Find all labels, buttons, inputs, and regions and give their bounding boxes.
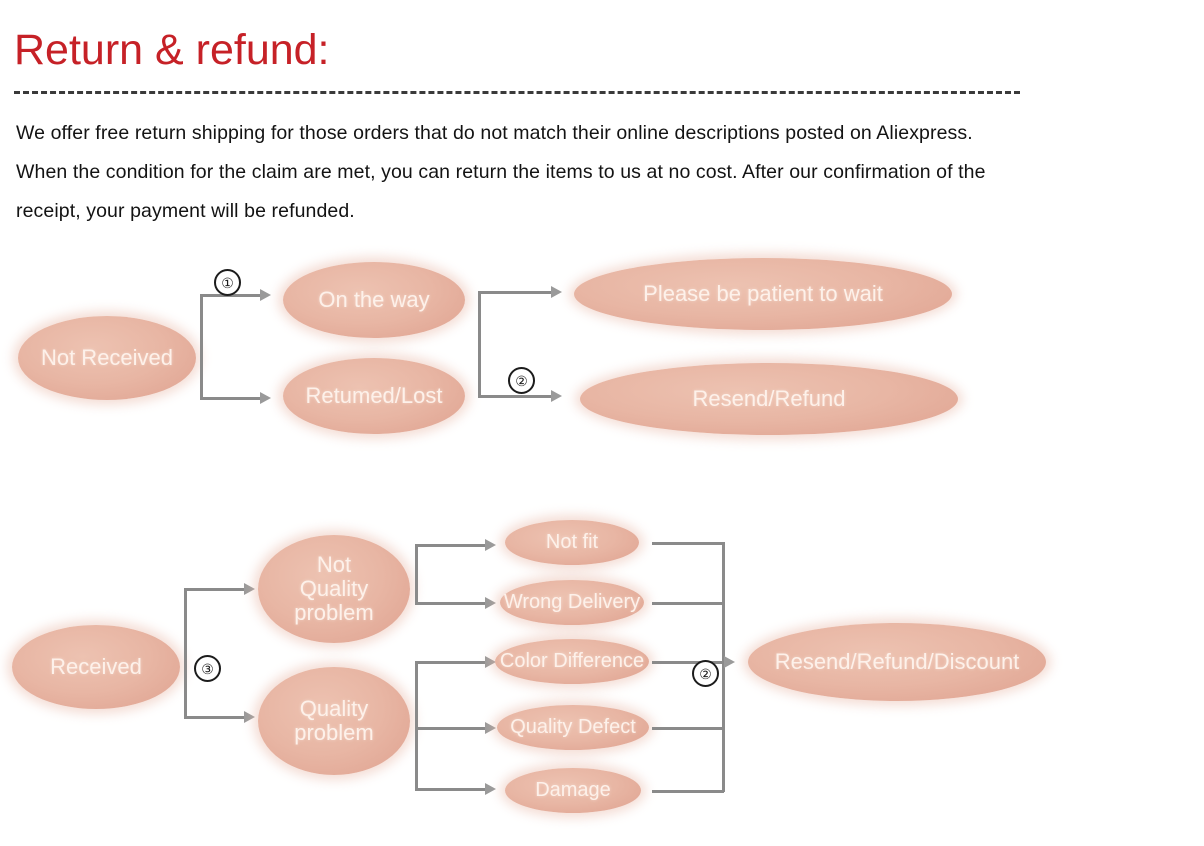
connector-line: [415, 661, 418, 789]
arrow-head: [244, 711, 255, 723]
node-returned-lost: Retumed/Lost: [283, 358, 465, 434]
title-divider: [14, 91, 1020, 94]
arrow-head: [260, 392, 271, 404]
connector-line: [478, 395, 553, 398]
flowchart-received: Received ③ Not Quality problem Quality p…: [0, 500, 1204, 830]
node-quality-defect: Quality Defect: [497, 705, 649, 750]
connector-line: [415, 544, 418, 604]
document-page: Return & refund: We offer free return sh…: [0, 0, 1204, 846]
arrow-head: [551, 286, 562, 298]
node-color-difference: Color Difference: [495, 639, 649, 684]
node-on-the-way: On the way: [283, 262, 465, 338]
connector-line: [478, 291, 553, 294]
node-received: Received: [12, 625, 180, 709]
connector-line: [415, 544, 487, 547]
arrow-head: [485, 597, 496, 609]
step-marker-2: ②: [508, 367, 535, 394]
arrow-head: [724, 656, 735, 668]
connector-line: [184, 588, 246, 591]
arrow-head: [485, 539, 496, 551]
arrow-head: [260, 289, 271, 301]
connector-line: [652, 542, 724, 545]
connector-line: [184, 716, 246, 719]
arrow-head: [485, 783, 496, 795]
connector-line: [652, 790, 724, 793]
connector-line: [652, 602, 724, 605]
connector-line: [415, 788, 487, 791]
step-marker-1: ①: [214, 269, 241, 296]
node-wrong-delivery: Wrong Delivery: [500, 580, 644, 625]
connector-line: [478, 291, 481, 397]
page-title: Return & refund:: [14, 24, 330, 76]
node-damage: Damage: [505, 768, 641, 813]
connector-line: [200, 397, 262, 400]
node-resend-refund-discount: Resend/Refund/Discount: [748, 623, 1046, 701]
node-not-quality-problem: Not Quality problem: [258, 535, 410, 643]
connector-line: [184, 588, 187, 718]
connector-line: [652, 727, 724, 730]
connector-line: [415, 602, 487, 605]
node-please-be-patient: Please be patient to wait: [574, 258, 952, 330]
node-resend-refund: Resend/Refund: [580, 363, 958, 435]
connector-line: [415, 727, 487, 730]
arrow-head: [485, 722, 496, 734]
step-marker-2b: ②: [692, 660, 719, 687]
node-quality-problem: Quality problem: [258, 667, 410, 775]
arrow-head: [244, 583, 255, 595]
node-not-received: Not Received: [18, 316, 196, 400]
step-marker-3: ③: [194, 655, 221, 682]
arrow-head: [551, 390, 562, 402]
node-not-fit: Not fit: [505, 520, 639, 565]
connector-line: [415, 661, 487, 664]
intro-paragraph: We offer free return shipping for those …: [16, 114, 1016, 231]
connector-line: [200, 294, 203, 399]
flowchart-not-received: Not Received ① On the way Retumed/Lost ②…: [0, 248, 1204, 448]
